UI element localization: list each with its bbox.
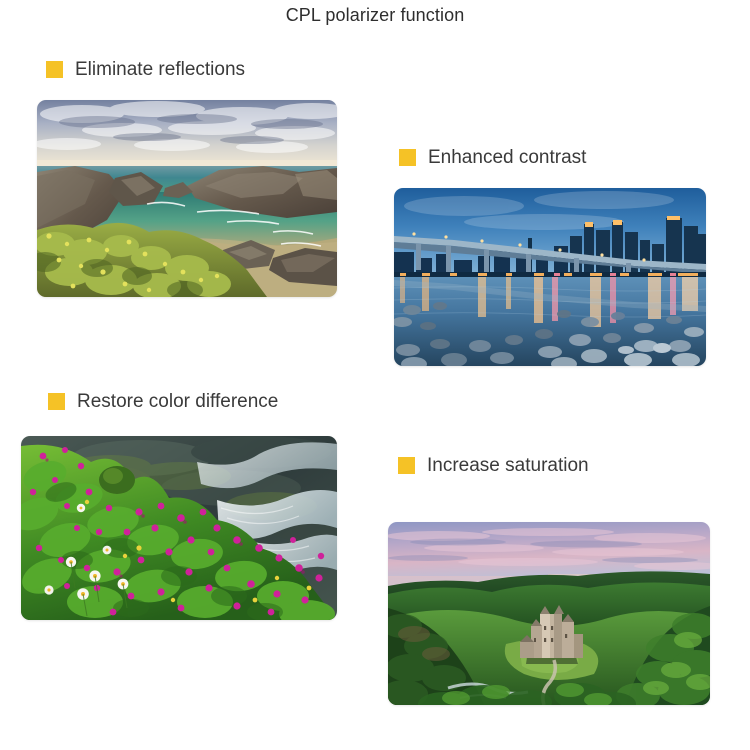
feature-label-restore-color-difference: Restore color difference	[48, 392, 278, 411]
yellow-square-bullet-icon	[46, 61, 63, 78]
feature-label-increase-saturation: Increase saturation	[398, 456, 589, 475]
page-title: CPL polarizer function	[0, 5, 750, 26]
yellow-square-bullet-icon	[399, 149, 416, 166]
coastal-cove-photo	[37, 100, 337, 297]
castle-valley-twilight-photo	[388, 522, 710, 705]
flowers-by-stream-photo	[21, 436, 337, 620]
feature-label-text: Increase saturation	[427, 456, 589, 475]
feature-label-enhanced-contrast: Enhanced contrast	[399, 148, 586, 167]
feature-label-text: Restore color difference	[77, 392, 278, 411]
blue-hour-city-bridge-photo	[394, 188, 706, 366]
feature-label-text: Enhanced contrast	[428, 148, 586, 167]
feature-label-eliminate-reflections: Eliminate reflections	[46, 60, 245, 79]
feature-label-text: Eliminate reflections	[75, 60, 245, 79]
yellow-square-bullet-icon	[48, 393, 65, 410]
yellow-square-bullet-icon	[398, 457, 415, 474]
